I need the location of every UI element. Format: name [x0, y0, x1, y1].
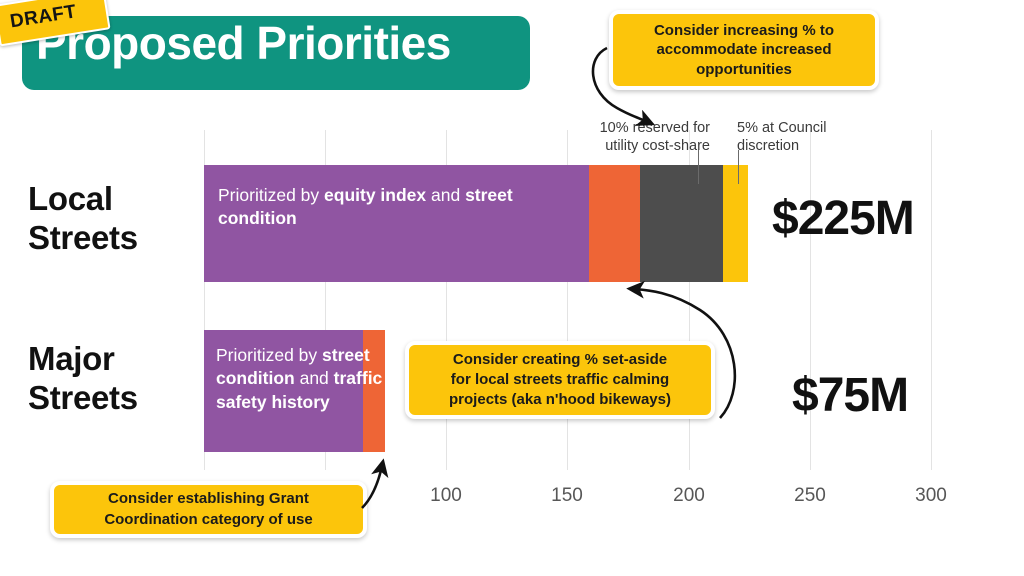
amount-local-streets: $225M — [772, 191, 914, 246]
category-label-line1: Local — [28, 180, 138, 219]
axis-tick-250: 250 — [775, 485, 845, 507]
axis-tick-200: 200 — [654, 485, 724, 507]
callout-text: Consider creating % set-aside for local … — [449, 350, 671, 411]
note-utility-cost-share: 10% reserved for utility cost-share — [578, 119, 710, 155]
axis-tick-150: 150 — [532, 485, 602, 507]
axis-tick-100: 100 — [411, 485, 481, 507]
bar-text-plain-2: and — [426, 185, 465, 205]
bar-text-plain-1: Prioritized by — [218, 185, 324, 205]
callout-increase-percentage[interactable]: Consider increasing % to accommodate inc… — [609, 10, 879, 90]
leader-tick-council — [738, 150, 739, 184]
axis-tick-300: 300 — [896, 485, 966, 507]
bar-annotation-major-streets: Prioritized by street condition and traf… — [216, 344, 392, 414]
category-label-line1: Major — [28, 340, 138, 379]
bar-segment-council-discretion — [723, 165, 748, 282]
bar-text-bold-1: equity index — [324, 185, 426, 205]
note-council-discretion: 5% at Council discretion — [737, 119, 857, 155]
bar-text-plain-1: Prioritized by — [216, 345, 322, 365]
gridline-300 — [931, 130, 932, 470]
bar-segment-unallocated — [640, 165, 723, 282]
bar-segment-utility-cost-share — [589, 165, 640, 282]
draft-label: DRAFT — [9, 1, 79, 33]
category-label-line2: Streets — [28, 219, 138, 258]
slide-canvas: Proposed Priorities DRAFT Local Streets … — [0, 0, 1024, 576]
category-label-line2: Streets — [28, 379, 138, 418]
callout-traffic-calming-set-aside[interactable]: Consider creating % set-aside for local … — [405, 341, 715, 419]
callout-text: Consider establishing Grant Coordination… — [104, 489, 312, 530]
bar-annotation-local-streets: Prioritized by equity index and street c… — [218, 184, 578, 231]
category-label-local-streets: Local Streets — [28, 180, 138, 258]
bar-text-plain-2: and — [295, 368, 334, 388]
leader-tick-utility — [698, 150, 699, 184]
category-label-major-streets: Major Streets — [28, 340, 138, 418]
amount-major-streets: $75M — [792, 368, 908, 423]
callout-grant-coordination[interactable]: Consider establishing Grant Coordination… — [50, 481, 367, 538]
callout-text: Consider increasing % to accommodate inc… — [654, 21, 834, 80]
